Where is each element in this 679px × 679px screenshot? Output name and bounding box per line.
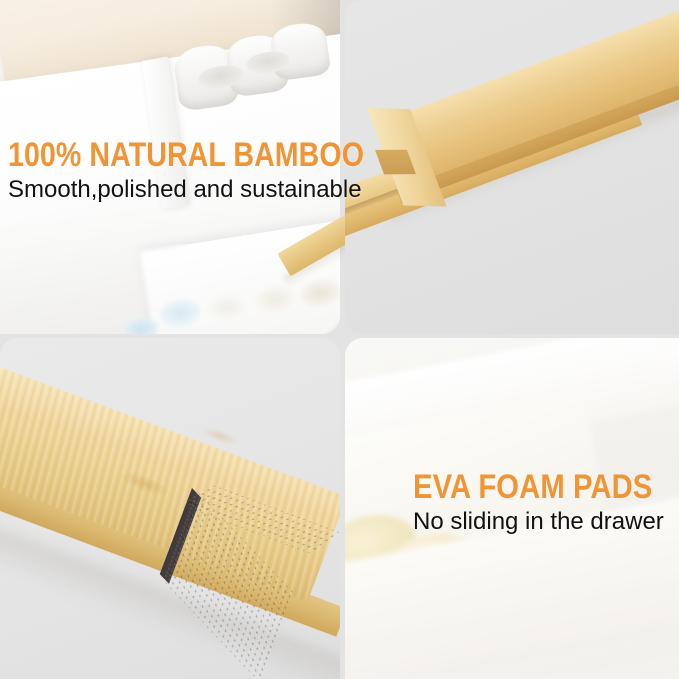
caption-eva-foam-pads: EVA FOAM PADS No sliding in the drawer (413, 470, 679, 534)
subtitle-natural-bamboo: Smooth,polished and sustainable (8, 178, 432, 202)
caption-natural-bamboo: 100% NATURAL BAMBOO Smooth,polished and … (8, 138, 432, 202)
headline-eva-foam-pads: EVA FOAM PADS (413, 470, 652, 504)
product-feature-collage: 100% NATURAL BAMBOO Smooth,polished and … (0, 0, 679, 679)
subtitle-eva-foam-pads: No sliding in the drawer (413, 510, 679, 534)
panel-foam-pad-closeup (0, 338, 340, 679)
headline-natural-bamboo: 100% NATURAL BAMBOO (8, 138, 364, 172)
